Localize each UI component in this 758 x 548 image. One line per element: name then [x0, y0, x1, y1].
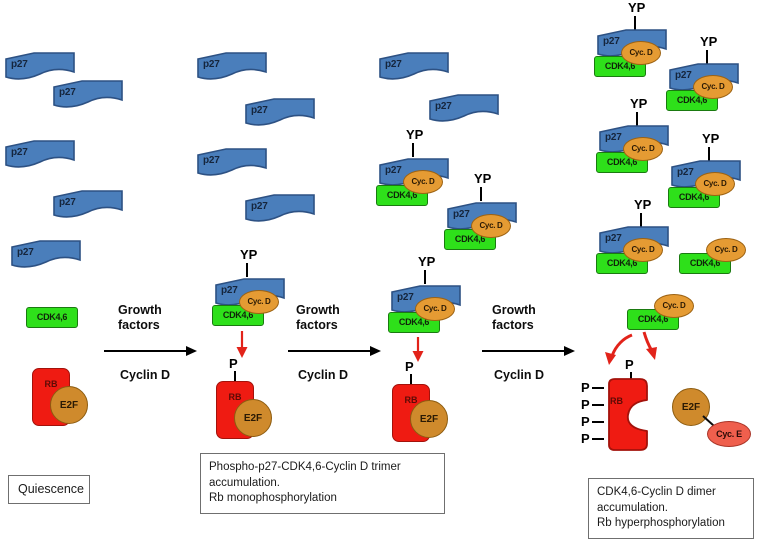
p27-label: p27 [675, 70, 692, 81]
p27-molecule: p27 [52, 78, 124, 108]
p27-label: p27 [605, 132, 622, 143]
transition-3-arrow-head [564, 346, 575, 356]
yp-phosphate-label: YP [240, 248, 257, 261]
cyclin-d-molecule: Cyc. D [403, 170, 443, 194]
yp-phosphate-label: YP [702, 132, 719, 145]
cyclin-d-molecule: Cyc. D [693, 75, 733, 99]
caption-quiescence: Quiescence [8, 475, 90, 504]
transition-1-top-label: Growth factors [118, 303, 162, 334]
p27-label: p27 [605, 233, 622, 244]
p27-label: p27 [385, 59, 402, 70]
p27-molecule: p27 [244, 96, 316, 126]
cyclin-d-molecule: Cyc. D [471, 214, 511, 238]
p27-label: p27 [203, 59, 220, 70]
e2f-protein: E2F [234, 399, 272, 437]
p-phosphate-label: P [581, 432, 590, 445]
transition-3-bottom-label: Cyclin D [494, 368, 544, 383]
p-phosphate-label: P [405, 360, 414, 373]
cyclin-e-label: Cyc. E [708, 429, 750, 439]
yp-phosphate-label: YP [630, 97, 647, 110]
e2f-label: E2F [235, 413, 271, 424]
transition-2-top-label: Growth factors [296, 303, 340, 334]
cyclin-d-label: Cyc. D [696, 179, 734, 188]
p27-molecule: p27 [4, 50, 76, 80]
yp-stem [246, 263, 248, 277]
p27-molecule: p27 [244, 192, 316, 222]
p27-label: p27 [397, 292, 414, 303]
cyclin-d-molecule: Cyc. D [623, 137, 663, 161]
transition-1-bottom-label: Cyclin D [120, 368, 170, 383]
p27-label: p27 [453, 209, 470, 220]
p27-label: p27 [17, 247, 34, 258]
p27-label: p27 [11, 59, 28, 70]
hyperphosphorylation-arrow-right [638, 330, 664, 362]
rb-label: RB [610, 396, 623, 406]
cyclin-e-molecule: Cyc. E [707, 421, 751, 447]
transition-3-arrow-line [482, 350, 566, 352]
yp-stem [412, 143, 414, 157]
p27-molecule: p27 [4, 138, 76, 168]
cyclin-d-molecule: Cyc. D [621, 41, 661, 65]
e2f-protein: E2F [410, 400, 448, 438]
e2f-label: E2F [411, 414, 447, 425]
cyclin-d-label: Cyc. D [624, 245, 662, 254]
cdk46-label: CDK4,6 [27, 312, 77, 322]
cyclin-d-label: Cyc. D [622, 48, 660, 57]
transition-1-arrow-head [186, 346, 197, 356]
cyclin-d-label: Cyc. D [707, 245, 745, 254]
caption-trimer: Phospho-p27-CDK4,6-Cyclin D trimer accum… [200, 453, 445, 514]
transition-2-bottom-label: Cyclin D [298, 368, 348, 383]
yp-stem [480, 187, 482, 201]
yp-phosphate-label: YP [634, 198, 651, 211]
yp-phosphate-label: YP [700, 35, 717, 48]
cyclin-d-label: Cyc. D [472, 221, 510, 230]
cyclin-d-molecule: Cyc. D [695, 172, 735, 196]
p27-molecule: p27 [428, 92, 500, 122]
yp-phosphate-label: YP [406, 128, 423, 141]
transition-2-arrow-line [288, 350, 372, 352]
p27-molecule: p27 [378, 50, 450, 80]
transition-3-top-label: Growth factors [492, 303, 536, 334]
p-phosphate-label: P [625, 358, 634, 371]
p27-molecule: p27 [196, 50, 268, 80]
p27-molecule: p27 [196, 146, 268, 176]
e2f-label: E2F [51, 400, 87, 411]
pathway-diagram: p27 p27 p27 p27 p27 CDK4,6 RB E2F Quiesc… [0, 0, 758, 548]
yp-phosphate-label: YP [628, 1, 645, 14]
p-phosphate-label: P [581, 415, 590, 428]
p27-label: p27 [677, 167, 694, 178]
p27-label: p27 [11, 147, 28, 158]
cyclin-d-molecule: Cyc. D [415, 297, 455, 321]
cyclin-d-label: Cyc. D [416, 304, 454, 313]
cyclin-d-label: Cyc. D [240, 297, 278, 306]
cyclin-d-molecule: Cyc. D [239, 290, 279, 314]
yp-stem [424, 270, 426, 284]
cyclin-d-molecule: Cyc. D [706, 238, 746, 262]
p27-label: p27 [435, 101, 452, 112]
cyclin-d-label: Cyc. D [624, 144, 662, 153]
rb-protein-hyperphosphorylated: RB [602, 378, 654, 452]
e2f-label: E2F [673, 402, 709, 413]
transition-2-arrow-head [370, 346, 381, 356]
e2f-protein: E2F [50, 386, 88, 424]
p-phosphate-label: P [229, 357, 238, 370]
cyclin-d-label: Cyc. D [404, 177, 442, 186]
p27-label: p27 [603, 36, 620, 47]
p-phosphate-label: P [581, 398, 590, 411]
yp-phosphate-label: YP [418, 255, 435, 268]
cyclin-d-molecule: Cyc. D [654, 294, 694, 318]
p27-label: p27 [251, 201, 268, 212]
p-phosphate-label: P [581, 381, 590, 394]
p27-label: p27 [251, 105, 268, 116]
p27-molecule: p27 [10, 238, 82, 268]
transition-1-arrow-line [104, 350, 188, 352]
cyclin-d-label: Cyc. D [694, 82, 732, 91]
p27-label: p27 [59, 197, 76, 208]
caption-dimer: CDK4,6-Cyclin D dimer accumulation. Rb h… [588, 478, 754, 539]
yp-phosphate-label: YP [474, 172, 491, 185]
p27-label: p27 [203, 155, 220, 166]
p27-label: p27 [59, 87, 76, 98]
cdk46-molecule: CDK4,6 [26, 307, 78, 328]
p27-label: p27 [221, 285, 238, 296]
cyclin-d-molecule: Cyc. D [623, 238, 663, 262]
p27-molecule: p27 [52, 188, 124, 218]
p27-label: p27 [385, 165, 402, 176]
cyclin-d-label: Cyc. D [655, 301, 693, 310]
